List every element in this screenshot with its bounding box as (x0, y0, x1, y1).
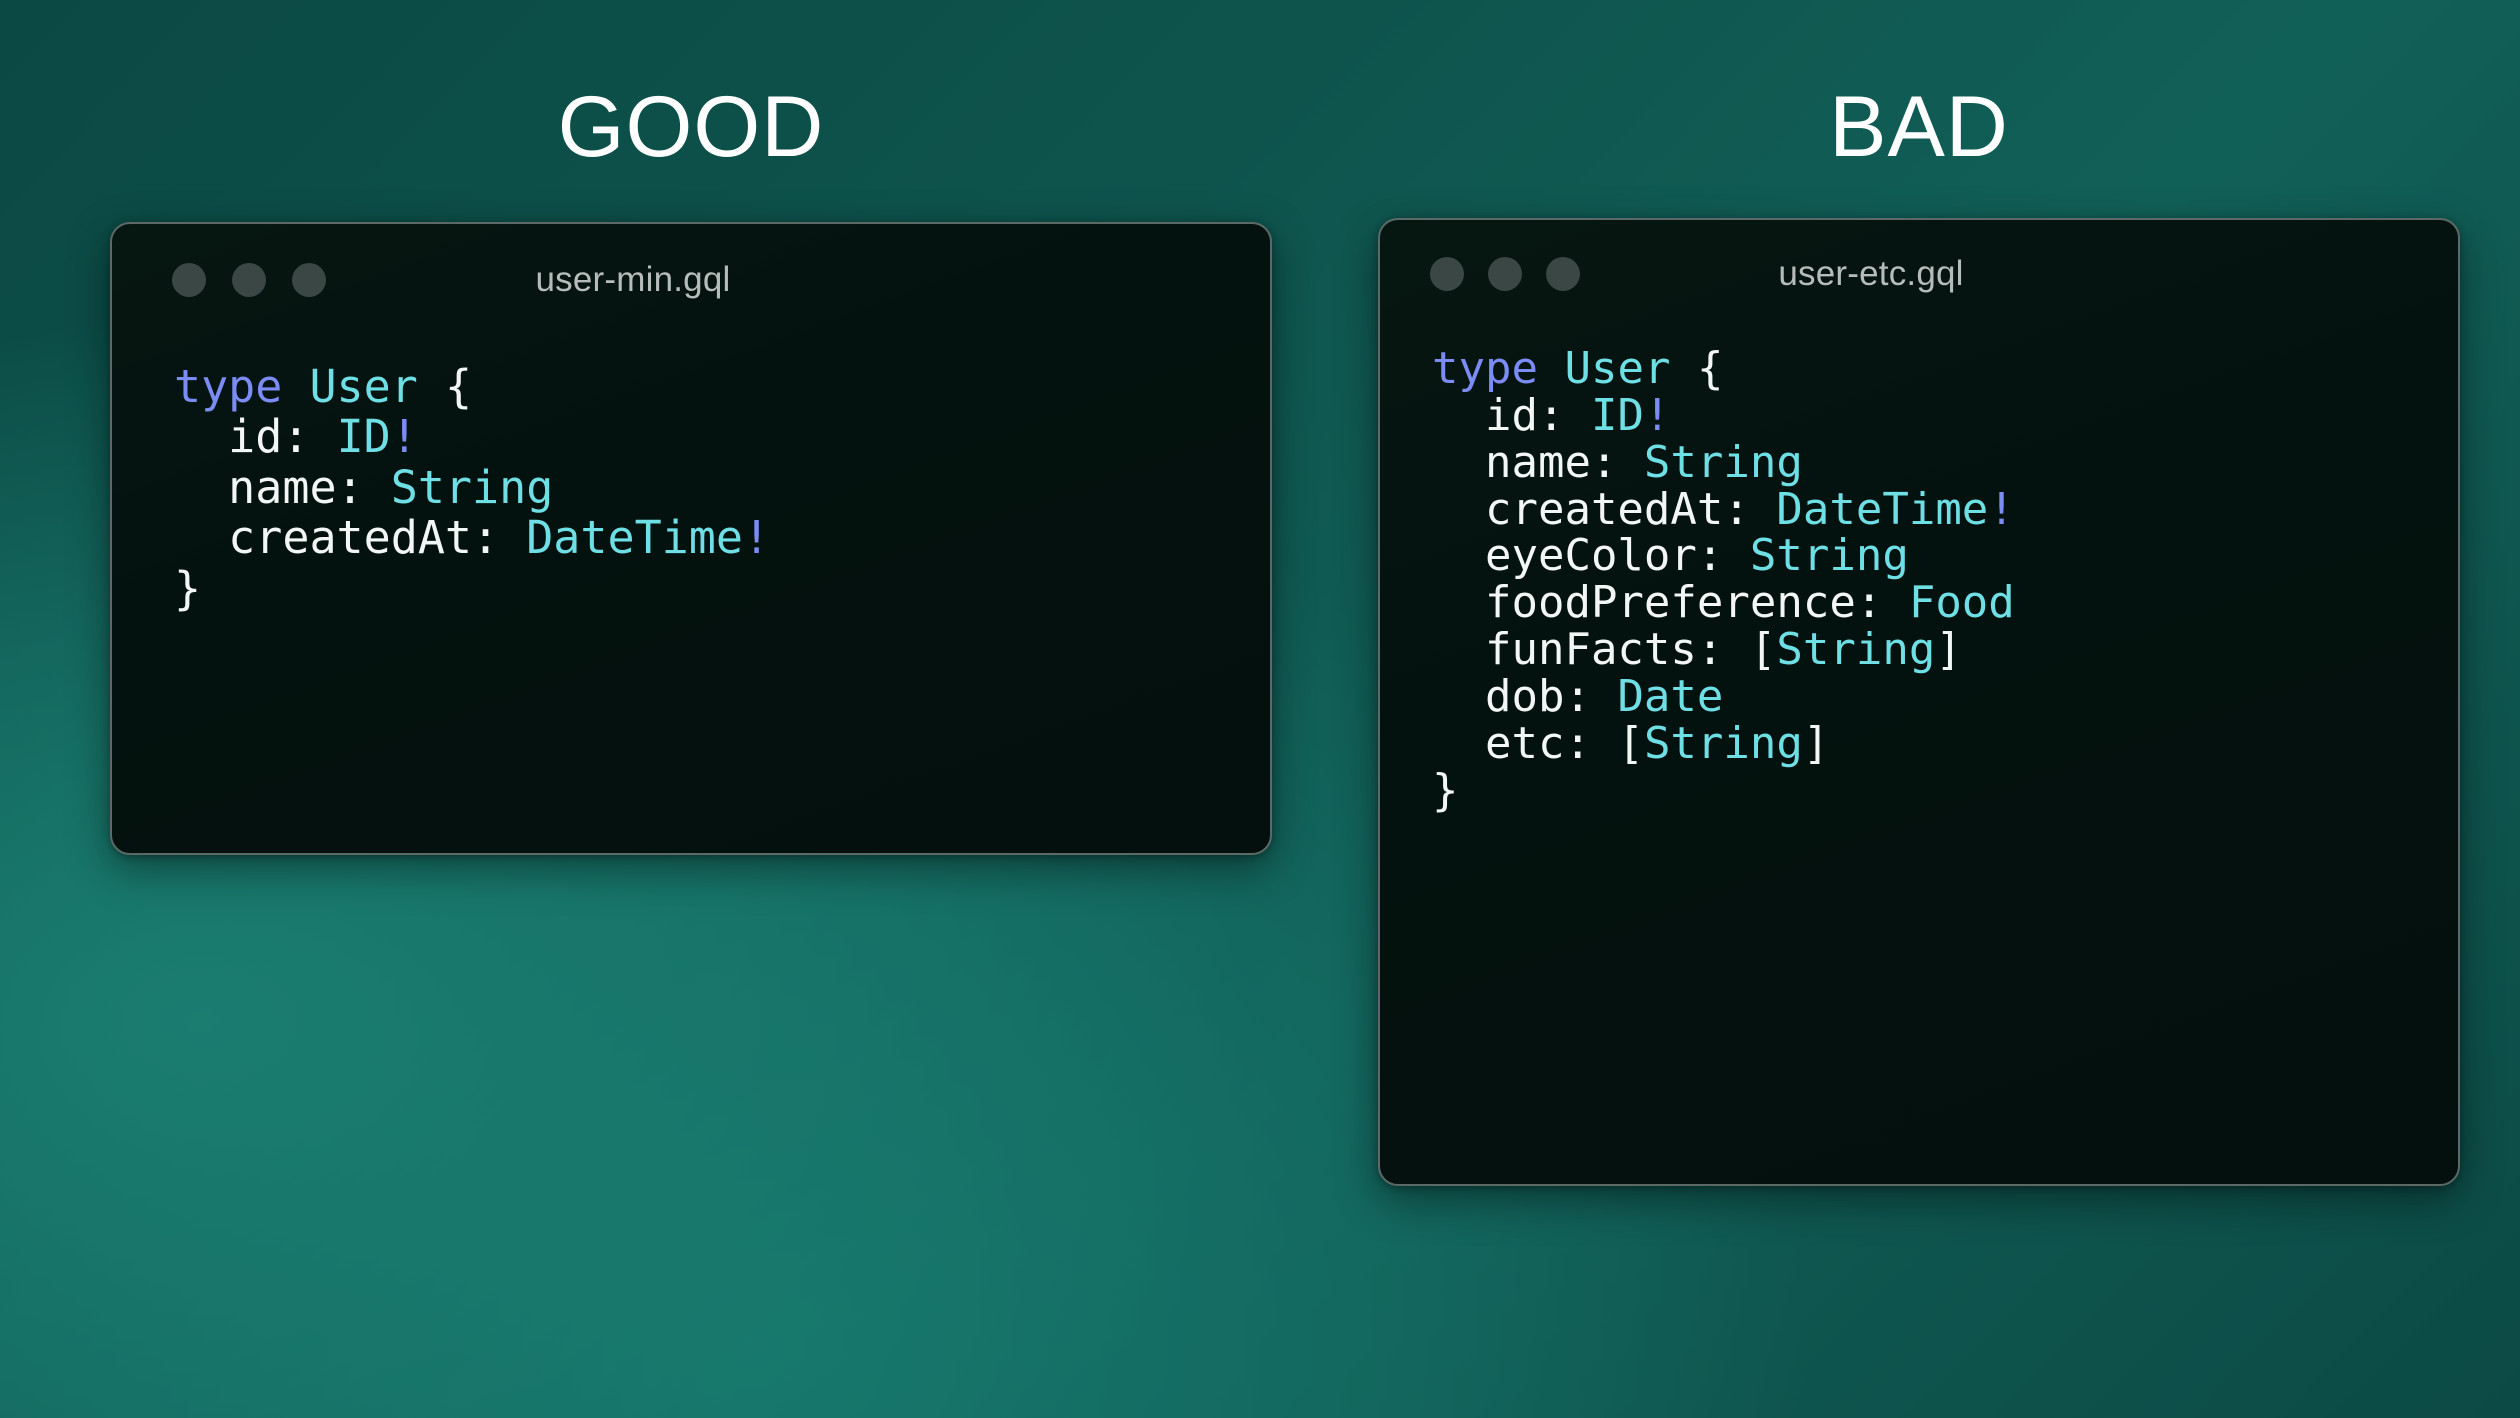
code-token-type: Date (1617, 671, 1723, 722)
code-line: id: ID! (1432, 393, 2458, 440)
code-line: name: String (174, 463, 1270, 513)
panel-heading-good: GOOD (110, 84, 1272, 170)
code-line: eyeColor: String (1432, 533, 2458, 580)
code-token-type: Food (1909, 577, 2015, 628)
code-token-type: String (1776, 624, 1935, 675)
code-token-bang: ! (743, 511, 770, 564)
code-line: type User { (1432, 346, 2458, 393)
code-token-bang: ! (1988, 484, 2015, 535)
code-token-plain: funFacts: (1432, 624, 1750, 675)
code-line: foodPreference: Food (1432, 580, 2458, 627)
comparison-stage: GOOD BAD user-min.gql type User { id: ID… (0, 0, 2520, 1418)
window-titlebar: user-etc.gql (1380, 220, 2458, 328)
code-line: createdAt: DateTime! (1432, 487, 2458, 534)
code-line: dob: Date (1432, 674, 2458, 721)
code-content-good: type User { id: ID! name: String created… (112, 336, 1270, 614)
code-token-type: User (309, 360, 417, 413)
close-dot-icon[interactable] (1430, 257, 1464, 291)
code-token-type: ID (337, 410, 391, 463)
code-token-plain: name: (1432, 437, 1644, 488)
code-token-plain: eyeColor: (1432, 530, 1750, 581)
code-token-plain (1538, 343, 1565, 394)
panel-heading-bad: BAD (1378, 84, 2460, 170)
window-traffic-lights (1430, 257, 1580, 291)
code-token-type: DateTime (526, 511, 743, 564)
code-token-kw: type (174, 360, 282, 413)
code-token-type: DateTime (1776, 484, 1988, 535)
code-line: name: String (1432, 440, 2458, 487)
code-token-type: User (1564, 343, 1670, 394)
code-token-bang: ! (391, 410, 418, 463)
window-traffic-lights (172, 263, 326, 297)
minimize-dot-icon[interactable] (1488, 257, 1522, 291)
code-token-plain: id: (1432, 390, 1591, 441)
code-token-type: String (391, 461, 554, 514)
code-line: } (1432, 768, 2458, 815)
code-token-kw: type (1432, 343, 1538, 394)
code-token-plain: createdAt: (1432, 484, 1776, 535)
close-dot-icon[interactable] (172, 263, 206, 297)
code-token-punct: ] (1803, 718, 1830, 769)
code-token-punct: [ (1750, 624, 1777, 675)
code-token-punct: [ (1617, 718, 1644, 769)
window-titlebar: user-min.gql (112, 224, 1270, 336)
code-token-punct: } (1432, 765, 1459, 816)
code-token-punct: { (1697, 343, 1724, 394)
code-token-plain: dob: (1432, 671, 1617, 722)
code-token-type: String (1750, 530, 1909, 581)
code-line: } (174, 564, 1270, 614)
code-token-plain: name: (174, 461, 391, 514)
code-token-punct: { (445, 360, 472, 413)
code-token-plain (418, 360, 445, 413)
code-line: type User { (174, 362, 1270, 412)
code-line: id: ID! (174, 412, 1270, 462)
code-line: createdAt: DateTime! (174, 513, 1270, 563)
code-token-punct: } (174, 562, 201, 615)
code-token-plain (1670, 343, 1697, 394)
code-line: funFacts: [String] (1432, 627, 2458, 674)
code-token-plain (282, 360, 309, 413)
code-token-plain: id: (174, 410, 337, 463)
code-token-type: ID (1591, 390, 1644, 441)
maximize-dot-icon[interactable] (292, 263, 326, 297)
code-token-plain: createdAt: (174, 511, 526, 564)
minimize-dot-icon[interactable] (232, 263, 266, 297)
code-token-punct: ] (1935, 624, 1962, 675)
maximize-dot-icon[interactable] (1546, 257, 1580, 291)
code-token-plain: foodPreference: (1432, 577, 1909, 628)
code-window-bad: user-etc.gql type User { id: ID! name: S… (1378, 218, 2460, 1186)
code-line: etc: [String] (1432, 721, 2458, 768)
code-token-type: String (1644, 437, 1803, 488)
code-token-type: String (1644, 718, 1803, 769)
code-token-plain: etc: (1432, 718, 1617, 769)
code-window-good: user-min.gql type User { id: ID! name: S… (110, 222, 1272, 855)
code-token-bang: ! (1644, 390, 1671, 441)
code-content-bad: type User { id: ID! name: String created… (1380, 328, 2458, 815)
